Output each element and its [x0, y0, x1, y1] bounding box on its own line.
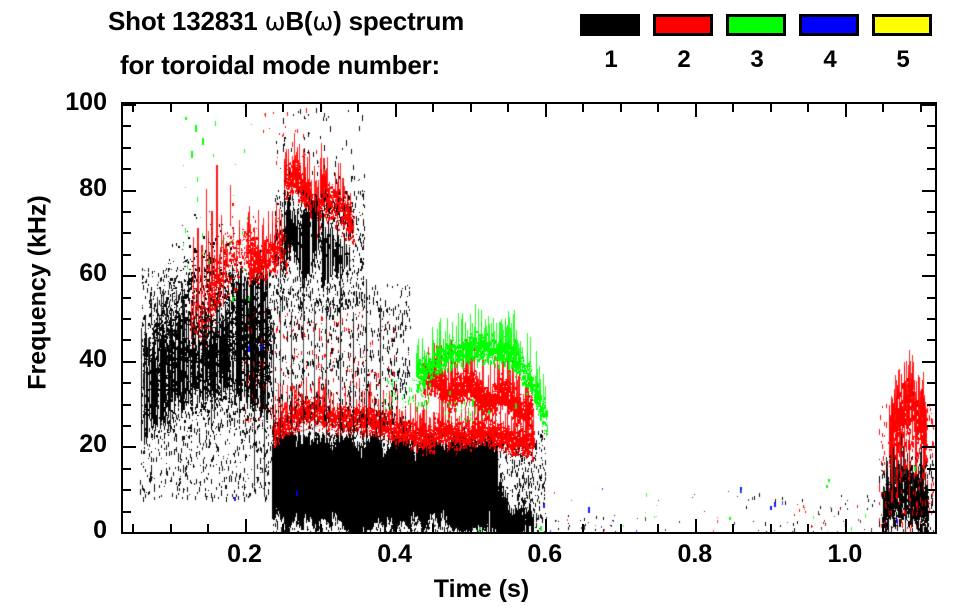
- legend-swatch-2: [653, 14, 713, 36]
- x-tick-0.5: [470, 104, 472, 112]
- y-tick-45: [123, 339, 131, 341]
- y-tick-95: [123, 125, 131, 127]
- y-tick-0: [922, 532, 935, 534]
- legend-swatch-4: [799, 14, 859, 36]
- x-tick-label-0.4: 0.4: [350, 540, 440, 569]
- legend-label-5: 5: [872, 46, 934, 74]
- y-tick-80: [922, 190, 935, 192]
- y-tick-label-0: 0: [27, 516, 107, 545]
- x-tick-0.9: [770, 524, 772, 532]
- x-tick-0.65: [582, 104, 584, 112]
- x-axis-title: Time (s): [0, 575, 963, 604]
- x-tick-0.15: [207, 104, 209, 112]
- y-tick-65: [123, 254, 131, 256]
- x-tick-0.8: [695, 104, 697, 117]
- y-tick-100: [123, 104, 136, 106]
- y-axis-title: Frequency (kHz): [24, 163, 53, 423]
- omega-glyph-2: ω: [312, 7, 333, 36]
- y-tick-90: [927, 147, 935, 149]
- x-tick-1: [845, 519, 847, 532]
- x-tick-0.4: [395, 519, 397, 532]
- y-tick-50: [927, 318, 935, 320]
- x-tick-1.05: [882, 104, 884, 112]
- figure-title: Shot 132831 ωB(ω) spectrum: [108, 6, 464, 37]
- y-tick-40: [922, 361, 935, 363]
- y-tick-85: [927, 168, 935, 170]
- x-tick-label-0.2: 0.2: [200, 540, 290, 569]
- x-tick-0.85: [732, 524, 734, 532]
- x-tick-0.35: [357, 524, 359, 532]
- x-tick-0.3: [320, 524, 322, 532]
- x-tick-0.85: [732, 104, 734, 112]
- y-tick-75: [123, 211, 131, 213]
- y-tick-55: [123, 297, 131, 299]
- x-tick-0.6: [545, 104, 547, 117]
- y-tick-65: [927, 254, 935, 256]
- y-tick-5: [123, 511, 131, 513]
- legend-swatch-3: [726, 14, 786, 36]
- legend-item-4[interactable]: 4: [799, 14, 861, 36]
- y-tick-95: [927, 125, 935, 127]
- legend-item-5[interactable]: 5: [872, 14, 934, 36]
- x-tick-label-0.6: 0.6: [500, 540, 590, 569]
- x-tick-label-1.0: 1.0: [800, 540, 890, 569]
- x-tick-0.35: [357, 104, 359, 112]
- y-tick-85: [123, 168, 131, 170]
- spectrogram-canvas: [123, 104, 935, 532]
- title-mid: B(: [285, 6, 312, 36]
- y-tick-10: [123, 489, 131, 491]
- y-tick-label-20: 20: [27, 430, 107, 459]
- x-tick-0.4: [395, 104, 397, 117]
- plot-area: [121, 102, 937, 534]
- y-tick-75: [927, 211, 935, 213]
- figure-subtitle: for toroidal mode number:: [120, 50, 440, 81]
- y-tick-90: [123, 147, 131, 149]
- x-tick-0.65: [582, 524, 584, 532]
- x-tick-0.05: [132, 524, 134, 532]
- y-tick-45: [927, 339, 935, 341]
- spectrogram-figure: Shot 132831 ωB(ω) spectrum for toroidal …: [0, 0, 963, 615]
- x-tick-1: [845, 104, 847, 117]
- x-tick-0.6: [545, 519, 547, 532]
- x-tick-1.05: [882, 524, 884, 532]
- x-tick-0.2: [245, 104, 247, 117]
- y-tick-30: [927, 404, 935, 406]
- omega-glyph-1: ω: [265, 7, 286, 36]
- y-tick-60: [123, 275, 136, 277]
- x-tick-1.1: [920, 524, 922, 532]
- legend-item-3[interactable]: 3: [726, 14, 788, 36]
- y-tick-60: [922, 275, 935, 277]
- title-suffix: ) spectrum: [333, 6, 464, 36]
- x-tick-0.1: [170, 104, 172, 112]
- y-tick-25: [927, 425, 935, 427]
- title-prefix: Shot 132831: [108, 6, 265, 36]
- legend-label-4: 4: [799, 46, 861, 74]
- y-tick-80: [123, 190, 136, 192]
- y-tick-0: [123, 532, 136, 534]
- x-tick-label-0.8: 0.8: [650, 540, 740, 569]
- x-tick-0.75: [657, 104, 659, 112]
- legend-label-1: 1: [580, 46, 642, 74]
- y-tick-30: [123, 404, 131, 406]
- y-tick-10: [927, 489, 935, 491]
- x-tick-0.95: [807, 524, 809, 532]
- y-tick-25: [123, 425, 131, 427]
- y-tick-35: [927, 382, 935, 384]
- y-tick-15: [927, 468, 935, 470]
- legend-item-1[interactable]: 1: [580, 14, 642, 36]
- x-tick-0.25: [282, 524, 284, 532]
- x-tick-0.1: [170, 524, 172, 532]
- x-tick-0.7: [620, 524, 622, 532]
- legend-label-2: 2: [653, 46, 715, 74]
- y-tick-55: [927, 297, 935, 299]
- x-tick-0.55: [507, 524, 509, 532]
- x-tick-0.8: [695, 519, 697, 532]
- y-tick-70: [123, 232, 131, 234]
- x-tick-0.45: [432, 524, 434, 532]
- x-tick-0.75: [657, 524, 659, 532]
- x-tick-0.2: [245, 519, 247, 532]
- y-tick-5: [927, 511, 935, 513]
- x-tick-0.55: [507, 104, 509, 112]
- legend-swatch-1: [580, 14, 640, 36]
- legend-item-2[interactable]: 2: [653, 14, 715, 36]
- y-tick-15: [123, 468, 131, 470]
- x-tick-0.5: [470, 524, 472, 532]
- y-tick-50: [123, 318, 131, 320]
- x-tick-0.25: [282, 104, 284, 112]
- legend-label-3: 3: [726, 46, 788, 74]
- x-tick-0.7: [620, 104, 622, 112]
- y-tick-20: [922, 446, 935, 448]
- y-tick-40: [123, 361, 136, 363]
- x-tick-0.95: [807, 104, 809, 112]
- y-tick-70: [927, 232, 935, 234]
- y-tick-20: [123, 446, 136, 448]
- x-tick-0.15: [207, 524, 209, 532]
- y-tick-label-100: 100: [27, 88, 107, 117]
- x-tick-0.45: [432, 104, 434, 112]
- x-tick-0.3: [320, 104, 322, 112]
- legend: 12345: [580, 14, 940, 92]
- y-tick-35: [123, 382, 131, 384]
- legend-swatch-5: [872, 14, 932, 36]
- x-tick-0.9: [770, 104, 772, 112]
- y-tick-100: [922, 104, 935, 106]
